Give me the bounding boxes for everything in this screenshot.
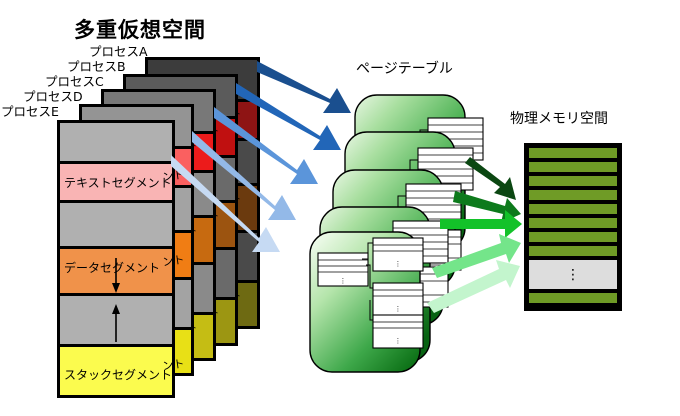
svg-text:⋮: ⋮ [340,277,347,285]
process-box-e[interactable]: ント ント ント [57,120,185,398]
stack-segment-label: スタックセグメント [64,368,172,382]
page-table-5[interactable]: ⋮ ⋮ ⋮ ⋮ [310,232,423,372]
text-segment-label: テキストセグメント [64,176,172,190]
svg-text:⋮: ⋮ [566,267,580,283]
svg-text:⋮: ⋮ [395,337,402,345]
data-segment-label: データセグメント [64,260,160,275]
diagram-canvas: 多重仮想空間 ページテーブル 物理メモリ空間 プロセスA プロセスB プロセスC… [0,0,680,416]
physical-memory-block[interactable]: ⋮ [524,143,622,311]
svg-text:⋮: ⋮ [395,305,402,313]
svg-text:⋮: ⋮ [395,260,402,268]
diagram-svg: ント ント ント ント ント ント ント ント [0,0,680,416]
